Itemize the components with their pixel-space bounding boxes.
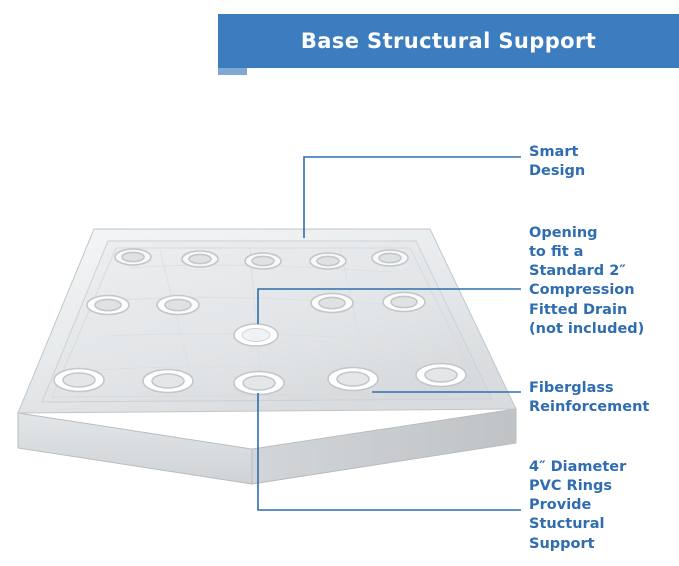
leader-line-opening	[258, 289, 521, 324]
callout-pvc-rings: 4″ Diameter PVC Rings Provide Stuctural …	[529, 458, 679, 554]
leader-line-pvc-rings	[258, 393, 521, 510]
callout-opening-drain: Opening to fit a Standard 2″ Compression…	[529, 224, 679, 339]
callout-smart-design: Smart Design	[529, 143, 679, 181]
callout-fiberglass-reinforcement: Fiberglass Reinforcement	[529, 379, 679, 417]
leader-line-smart-design	[304, 157, 521, 238]
